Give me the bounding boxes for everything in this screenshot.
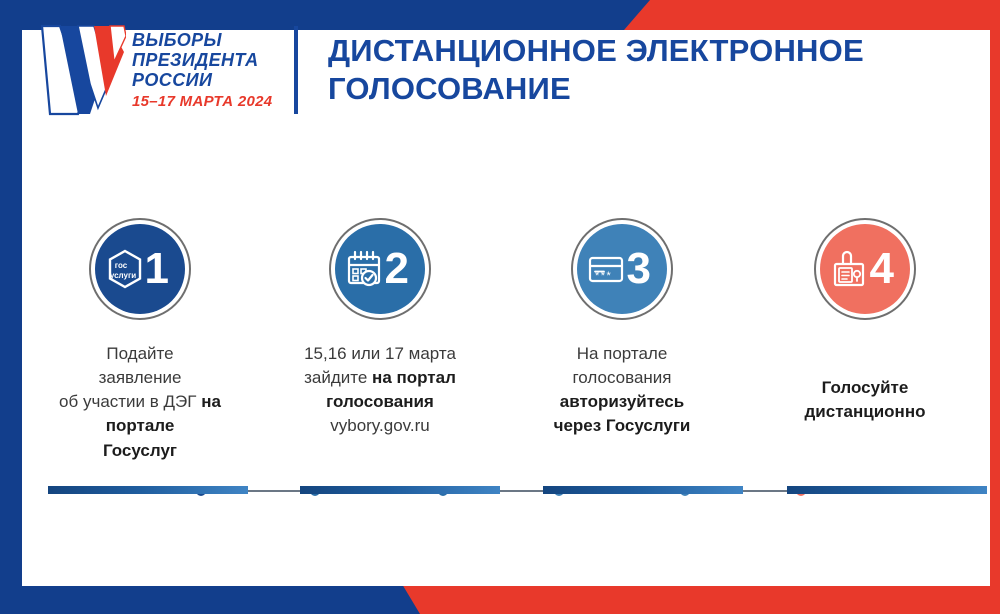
step-3-caption: На портале голосования авторизуйтесь чер… (502, 342, 742, 439)
poster-header: ВЫБОРЫ ПРЕЗИДЕНТА РОССИИ 15–17 МАРТА 202… (40, 18, 864, 122)
step-2-circle: 2 (335, 224, 425, 314)
logo-line-1: ВЫБОРЫ (132, 30, 272, 50)
step-3-circle: *** 3 (577, 224, 667, 314)
underline-bar-3 (543, 486, 743, 494)
infographic-poster: ВЫБОРЫ ПРЕЗИДЕНТА РОССИИ 15–17 МАРТА 202… (0, 0, 1000, 614)
step-2-caption-regular-2: vybory.gov.ru (330, 416, 430, 435)
step-1-caption-regular: Подайте заявление об участии в ДЭГ (59, 344, 196, 411)
underline-bars (0, 486, 1000, 496)
step-4-caption: Голосуйте дистанционно (745, 376, 985, 424)
underline-bar-1 (48, 486, 248, 494)
step-2: 2 15,16 или 17 марта зайдите на портал г… (260, 218, 500, 439)
header-divider (294, 26, 298, 114)
election-logo: ВЫБОРЫ ПРЕЗИДЕНТА РОССИИ 15–17 МАРТА 202… (40, 18, 280, 122)
step-4-caption-bold: Голосуйте дистанционно (805, 378, 926, 421)
bottom-red-band (0, 586, 1000, 614)
logo-dates: 15–17 МАРТА 2024 (132, 93, 272, 110)
step-3-caption-bold: авторизуйтесь через Госуслуги (554, 392, 691, 435)
step-2-number: 2 (385, 247, 409, 291)
step-1-circle: гос услуги 1 (95, 224, 185, 314)
step-1-caption: Подайте заявление об участии в ДЭГ на по… (20, 342, 260, 463)
underline-bar-2 (300, 486, 500, 494)
step-3-caption-regular: На портале голосования (572, 344, 671, 387)
step-1: гос услуги 1 Подайте заявление об участи… (20, 218, 260, 463)
ballot-box-icon (830, 249, 870, 289)
svg-text:гос: гос (115, 261, 128, 270)
card-password-icon: *** (587, 249, 627, 289)
step-3-number: 3 (627, 247, 651, 291)
step-4-circle: 4 (820, 224, 910, 314)
step-4-badge: 4 (814, 218, 916, 320)
page-title: ДИСТАНЦИОННОЕ ЭЛЕКТРОННОЕ ГОЛОСОВАНИЕ (328, 32, 864, 109)
step-2-caption: 15,16 или 17 марта зайдите на портал гол… (260, 342, 500, 439)
svg-text:***: *** (595, 270, 612, 282)
gosuslugi-logo-icon: гос услуги (105, 249, 145, 289)
calendar-check-icon (345, 249, 385, 289)
steps-row: гос услуги 1 Подайте заявление об участи… (0, 218, 1000, 498)
logo-line-3: РОССИИ (132, 70, 272, 90)
russia-tricolor-v-icon (40, 22, 126, 122)
step-4-number: 4 (870, 247, 894, 291)
svg-text:услуги: услуги (110, 271, 136, 280)
step-1-badge: гос услуги 1 (89, 218, 191, 320)
underline-bar-4 (787, 486, 987, 494)
step-2-badge: 2 (329, 218, 431, 320)
step-4: 4 Голосуйте дистанционно (745, 218, 985, 424)
bottom-blue-band (0, 586, 420, 614)
logo-line-2: ПРЕЗИДЕНТА (132, 50, 272, 70)
election-logo-wordmark: ВЫБОРЫ ПРЕЗИДЕНТА РОССИИ 15–17 МАРТА 202… (132, 18, 272, 110)
step-3-badge: *** 3 (571, 218, 673, 320)
step-3: *** 3 На портале голосования авторизуйте… (502, 218, 742, 439)
step-1-number: 1 (145, 247, 169, 291)
